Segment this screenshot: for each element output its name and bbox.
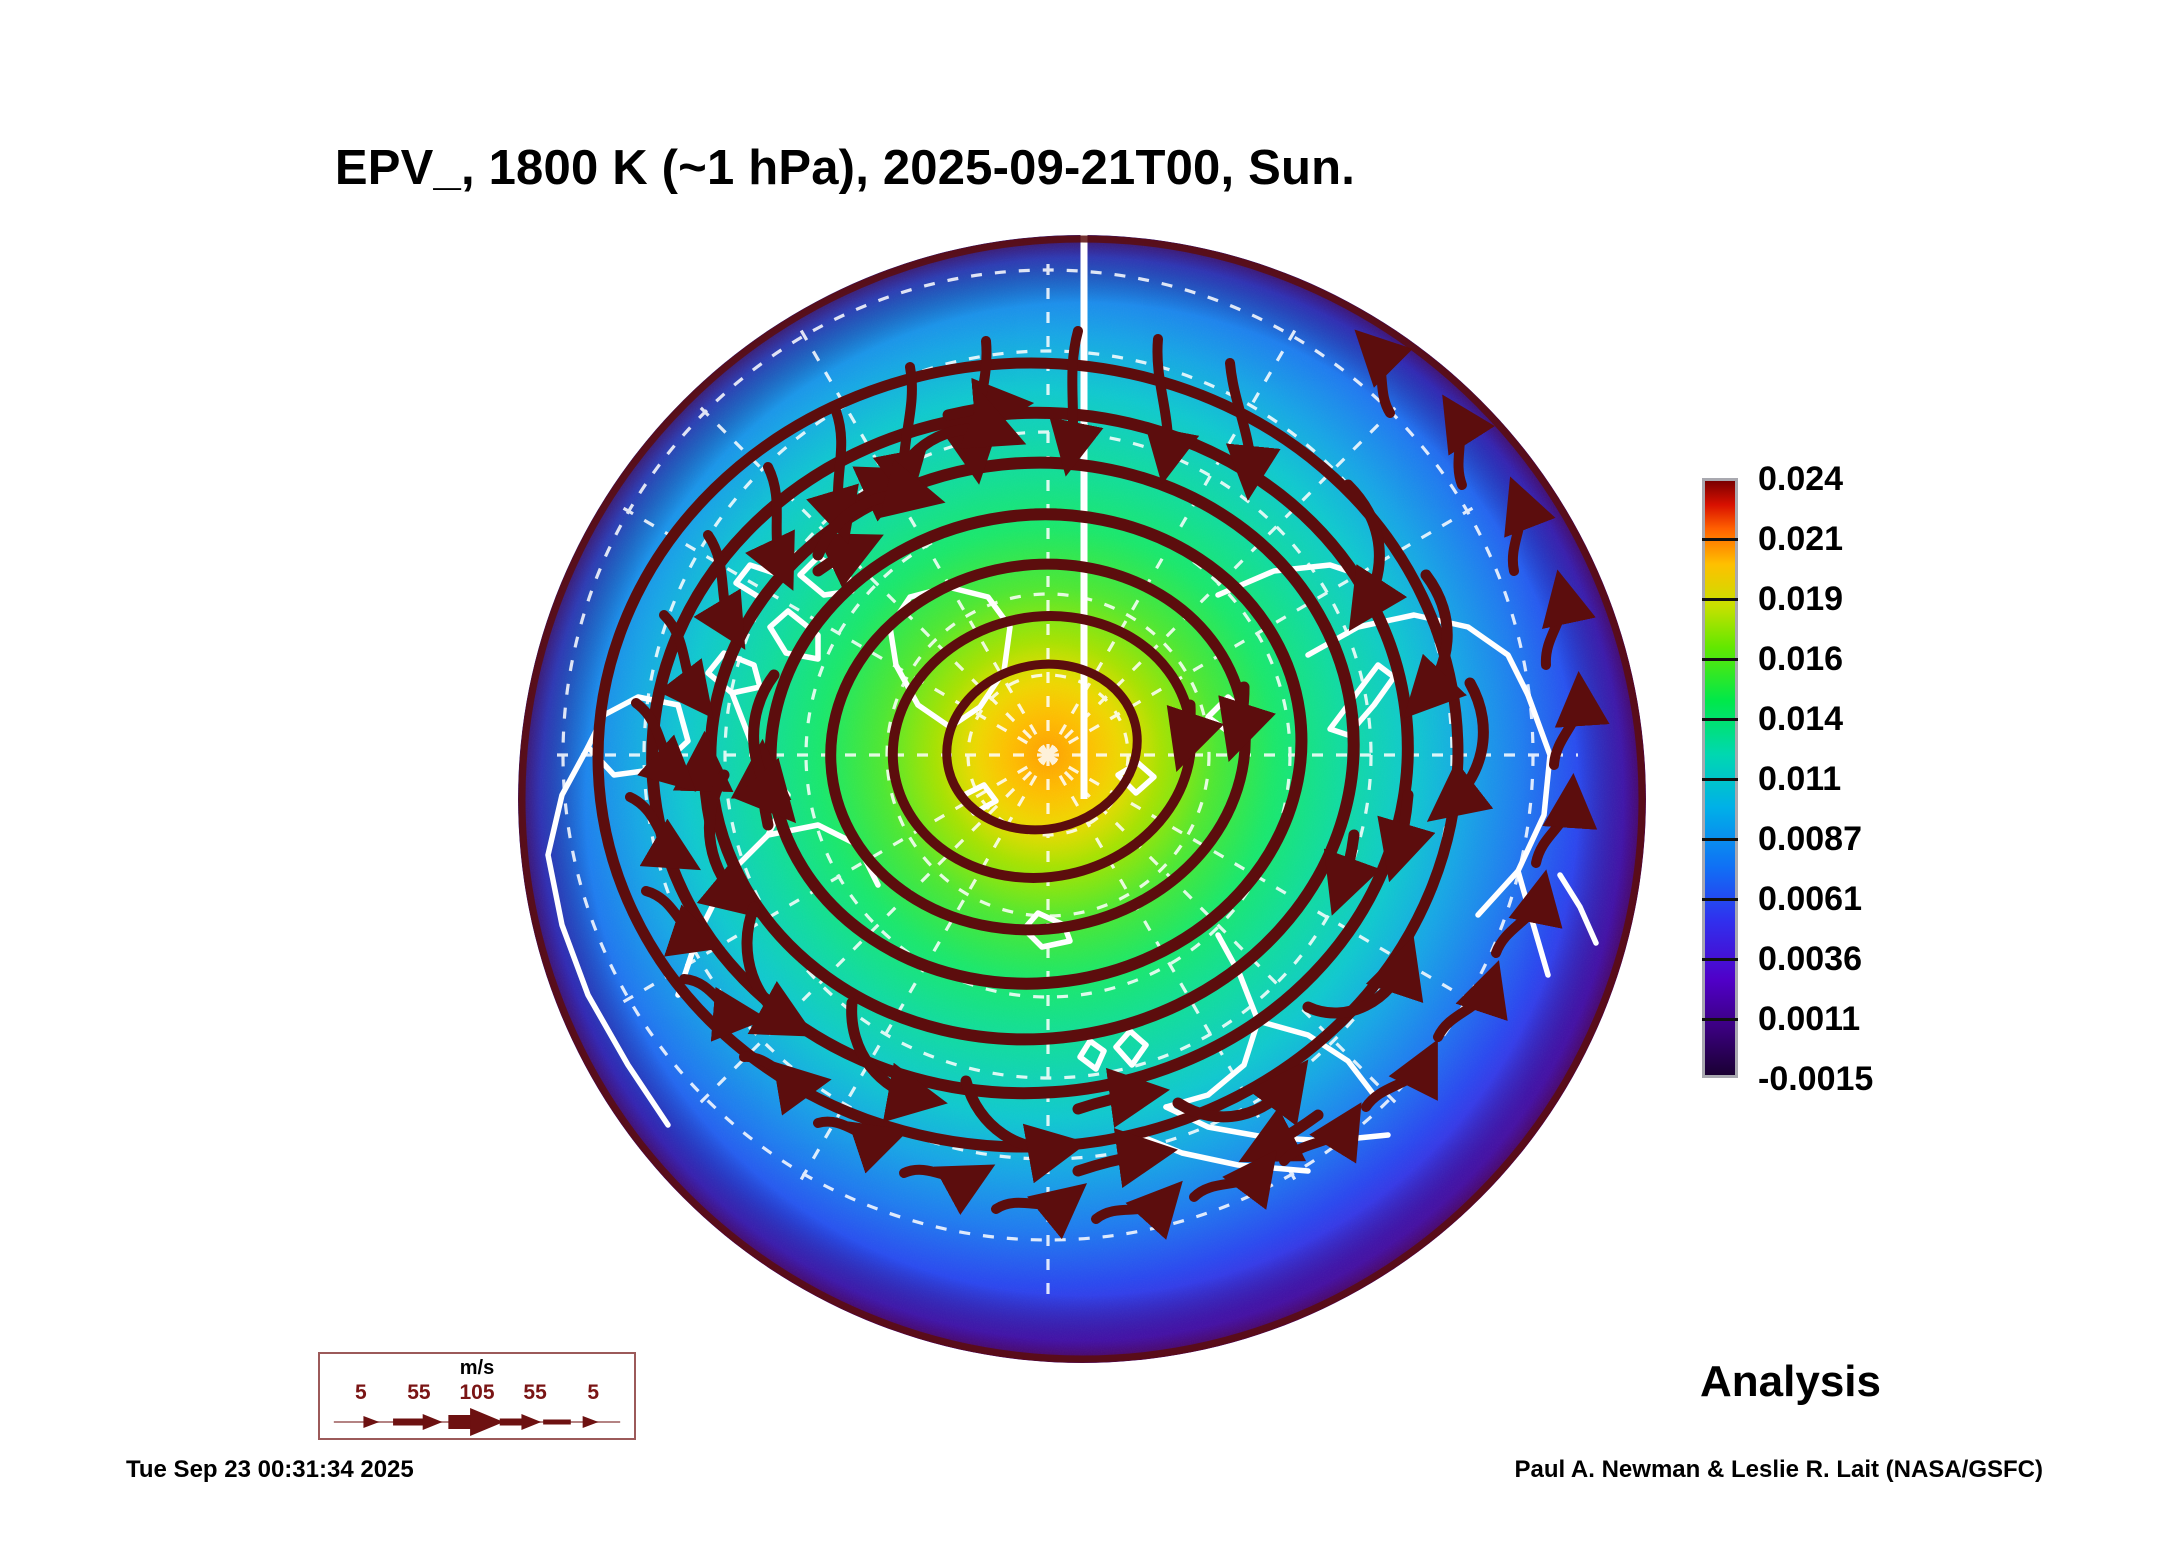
wind-units-label: m/s xyxy=(320,1357,634,1380)
colorbar-tick xyxy=(1702,958,1738,961)
figure-canvas: EPV_, 1800 K (~1 hPa), 2025-09-21T00, Su… xyxy=(0,0,2165,1561)
colorbar-label: 0.024 xyxy=(1758,462,1843,496)
colorbar-label: 0.011 xyxy=(1758,762,1841,796)
wind-value: 5 xyxy=(355,1381,367,1405)
colorbar-label: -0.0015 xyxy=(1758,1062,1873,1096)
colorbar-tick xyxy=(1702,778,1738,781)
colorbar-label: 0.0087 xyxy=(1758,822,1862,856)
colorbar-label: 0.016 xyxy=(1758,642,1843,676)
colorbar-tick xyxy=(1702,898,1738,901)
colorbar-tick xyxy=(1702,658,1738,661)
wind-value: 55 xyxy=(407,1381,430,1405)
colorbar-label: 0.0036 xyxy=(1758,942,1862,976)
wind-arrow-scale-icon xyxy=(320,1406,634,1438)
colorbar-label: 0.014 xyxy=(1758,702,1843,736)
author-credit: Paul A. Newman & Leslie R. Lait (NASA/GS… xyxy=(1514,1456,2043,1484)
colorbar-label: 0.0011 xyxy=(1758,1002,1860,1036)
colorbar-label: 0.019 xyxy=(1758,582,1843,616)
wind-value: 105 xyxy=(459,1381,494,1405)
colorbar-tick xyxy=(1702,1018,1738,1021)
colorbar-tick xyxy=(1702,598,1738,601)
map-svg xyxy=(518,235,1646,1363)
map-disc xyxy=(518,235,1646,1363)
generation-timestamp: Tue Sep 23 00:31:34 2025 xyxy=(126,1456,414,1484)
wind-value: 5 xyxy=(587,1381,599,1405)
colorbar-tick xyxy=(1702,838,1738,841)
colorbar: 0.024 0.021 0.019 0.016 0.014 0.011 0.00… xyxy=(1700,470,2120,1100)
colorbar-tick xyxy=(1702,538,1738,541)
analysis-label: Analysis xyxy=(1700,1357,1881,1407)
polar-map xyxy=(518,235,1646,1363)
colorbar-label: 0.021 xyxy=(1758,522,1843,556)
colorbar-tick xyxy=(1702,718,1738,721)
page-title: EPV_, 1800 K (~1 hPa), 2025-09-21T00, Su… xyxy=(0,140,1690,196)
colorbar-label: 0.0061 xyxy=(1758,882,1862,916)
wind-speed-legend: m/s 5 55 105 55 5 xyxy=(318,1352,636,1440)
wind-value: 55 xyxy=(523,1381,546,1405)
